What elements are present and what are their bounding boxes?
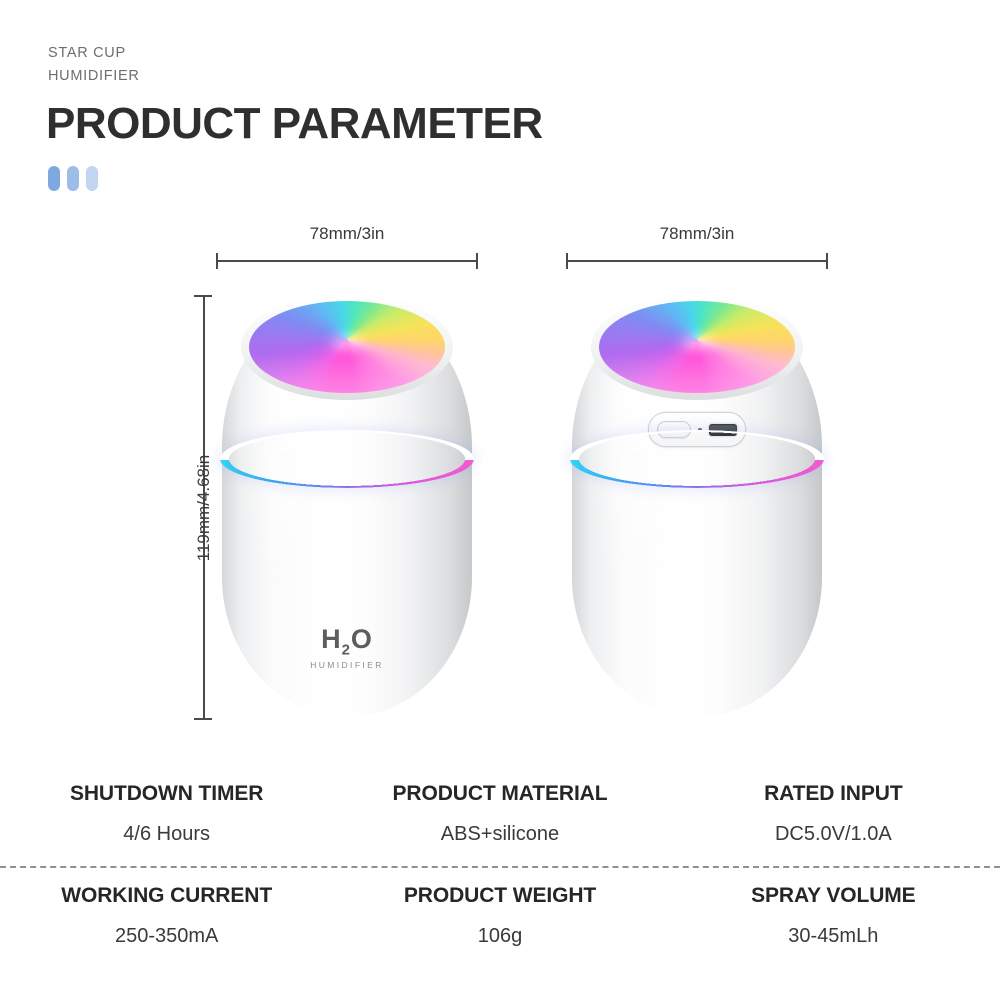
width-dimension-label-1: 78mm/3in bbox=[216, 224, 478, 244]
h2o-letter-o: O bbox=[351, 624, 373, 654]
spec-value: 106g bbox=[337, 925, 662, 948]
height-dimension: 119mm/4.68in bbox=[184, 295, 224, 720]
height-dimension-cap-top bbox=[194, 295, 212, 297]
humidifier-unit-side bbox=[572, 297, 822, 717]
spec-key: WORKING CURRENT bbox=[4, 884, 329, 908]
glow-ring-gradient-side bbox=[570, 430, 824, 488]
glow-ring-front bbox=[220, 430, 474, 488]
spec-key: PRODUCT MATERIAL bbox=[337, 782, 662, 806]
h2o-subscript-2: 2 bbox=[342, 641, 351, 658]
width-dimension-label-2: 78mm/3in bbox=[566, 224, 828, 244]
width-dimension-unit-2: 78mm/3in bbox=[566, 228, 828, 268]
spec-table: SHUTDOWN TIMER 4/6 Hours PRODUCT MATERIA… bbox=[0, 770, 1000, 962]
spec-value: DC5.0V/1.0A bbox=[671, 823, 996, 846]
width-dimension-cap-left-2 bbox=[566, 253, 568, 269]
spec-cell-product-material: PRODUCT MATERIAL ABS+silicone bbox=[333, 770, 666, 860]
height-dimension-label: 119mm/4.68in bbox=[194, 454, 214, 560]
spec-key: SHUTDOWN TIMER bbox=[4, 782, 329, 806]
spec-key: SPRAY VOLUME bbox=[671, 884, 996, 908]
width-dimension-bar-2 bbox=[566, 260, 828, 262]
spec-key: RATED INPUT bbox=[671, 782, 996, 806]
glow-ring-gradient-front bbox=[220, 430, 474, 488]
spec-row-2: WORKING CURRENT 250-350mA PRODUCT WEIGHT… bbox=[0, 872, 1000, 962]
width-dimension-cap-right-1 bbox=[476, 253, 478, 269]
bowl-gradient-front bbox=[249, 301, 445, 393]
spec-divider bbox=[0, 866, 1000, 868]
humidifier-unit-front: H2O HUMIDIFIER bbox=[222, 297, 472, 717]
spec-value: 30-45mLh bbox=[671, 925, 996, 948]
h2o-letter-h: H bbox=[321, 624, 342, 654]
h2o-brand-caption: HUMIDIFIER bbox=[310, 660, 384, 670]
width-dimension-bar-1 bbox=[216, 260, 478, 262]
bowl-gradient-side bbox=[599, 301, 795, 393]
spec-cell-shutdown-timer: SHUTDOWN TIMER 4/6 Hours bbox=[0, 770, 333, 860]
width-dimension-cap-right-2 bbox=[826, 253, 828, 269]
spec-cell-spray-volume: SPRAY VOLUME 30-45mLh bbox=[667, 872, 1000, 962]
width-dimension-unit-1: 78mm/3in bbox=[216, 228, 478, 268]
spec-cell-working-current: WORKING CURRENT 250-350mA bbox=[0, 872, 333, 962]
h2o-brand-mark: H2O HUMIDIFIER bbox=[310, 624, 384, 670]
spec-key: PRODUCT WEIGHT bbox=[337, 884, 662, 908]
spec-cell-rated-input: RATED INPUT DC5.0V/1.0A bbox=[667, 770, 1000, 860]
rainbow-bowl-front bbox=[249, 301, 445, 393]
spec-value: ABS+silicone bbox=[337, 823, 662, 846]
rainbow-bowl-side bbox=[599, 301, 795, 393]
spec-value: 4/6 Hours bbox=[4, 823, 329, 846]
width-dimension-cap-left-1 bbox=[216, 253, 218, 269]
spec-row-1: SHUTDOWN TIMER 4/6 Hours PRODUCT MATERIA… bbox=[0, 770, 1000, 860]
h2o-logo-text: H2O bbox=[310, 624, 384, 658]
spec-value: 250-350mA bbox=[4, 925, 329, 948]
spec-cell-product-weight: PRODUCT WEIGHT 106g bbox=[333, 872, 666, 962]
product-illustration: 78mm/3in 78mm/3in 119mm/4.68in H2O HUMID… bbox=[0, 0, 1000, 760]
height-dimension-cap-bottom bbox=[194, 718, 212, 720]
glow-ring-side bbox=[570, 430, 824, 488]
